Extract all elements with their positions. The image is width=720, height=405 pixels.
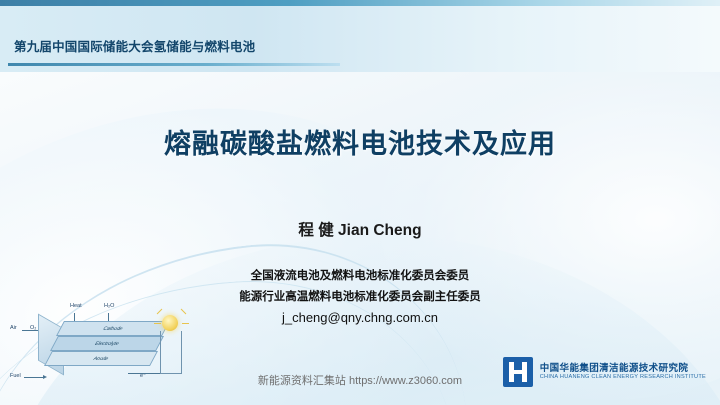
- diagram-label-heat: Heat: [70, 303, 82, 309]
- fuel-cell-diagram: Heat H₂O Air O₂ Fuel e⁻ Cathode Electrol…: [8, 291, 218, 401]
- conference-banner-text: 第九届中国国际储能大会氢储能与燃料电池: [14, 36, 255, 55]
- layer-anode: Anode: [44, 351, 158, 366]
- diagram-label-air: Air: [10, 325, 17, 331]
- arrow-head-fuel: [43, 375, 47, 379]
- circuit-wire: [160, 331, 182, 374]
- logo-text-block: 中国华能集团清洁能源技术研究院 CHINA HUANENG CLEAN ENER…: [540, 363, 706, 382]
- bulb-ray-1: [157, 309, 163, 315]
- conference-banner-underline: [8, 63, 340, 66]
- header-accent-bar: [0, 0, 720, 6]
- electron-path: [128, 373, 160, 374]
- diagram-label-fuel: Fuel: [10, 373, 21, 379]
- organization-logo: 中国华能集团清洁能源技术研究院 CHINA HUANENG CLEAN ENER…: [503, 357, 706, 387]
- arrow-fuel-inlet: [24, 377, 44, 378]
- bulb-ray-2: [181, 309, 187, 315]
- bulb-ray-4: [154, 323, 161, 324]
- author-name: 程 健 Jian Cheng: [0, 218, 720, 240]
- presentation-slide: 第九届中国国际储能大会氢储能与燃料电池 熔融碳酸盐燃料电池技术及应用 程 健 J…: [0, 0, 720, 405]
- bulb-ray-3: [182, 323, 189, 324]
- affiliation-line-1: 全国液流电池及燃料电池标准化委员会委员: [0, 267, 720, 283]
- lightbulb-icon: [162, 315, 178, 331]
- page-title: 熔融碳酸盐燃料电池技术及应用: [0, 122, 720, 161]
- logo-name-en: CHINA HUANENG CLEAN ENERGY RESEARCH INST…: [540, 374, 706, 381]
- logo-crossbar: [509, 370, 527, 374]
- logo-name-cn: 中国华能集团清洁能源技术研究院: [540, 363, 706, 375]
- huaneng-logo-icon: [503, 357, 533, 387]
- layer-cathode: Cathode: [56, 321, 170, 336]
- diagram-label-h2o: H₂O: [104, 303, 114, 309]
- layer-electrolyte: Electrolyte: [50, 336, 164, 351]
